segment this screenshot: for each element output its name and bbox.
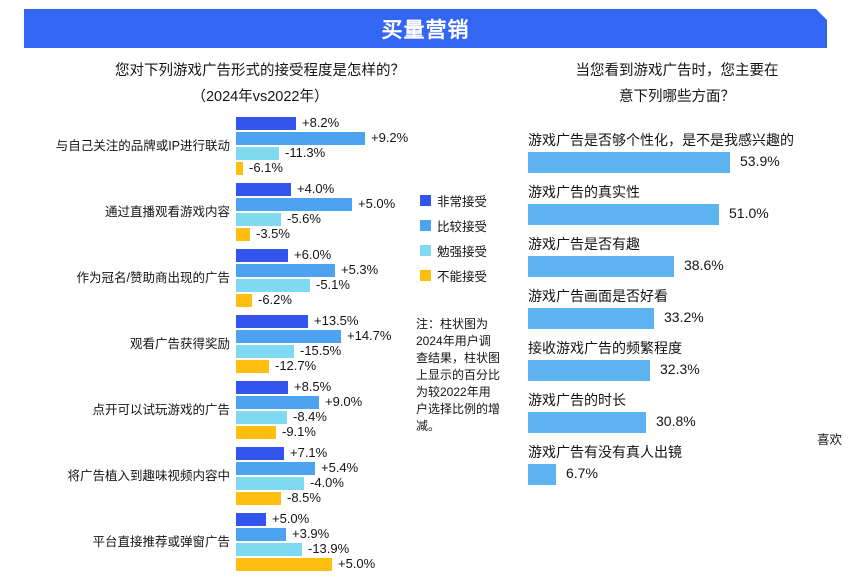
left-chart-title: 您对下列游戏广告形式的接受程度是怎样的？ （2024年vs2022年） [40,58,480,110]
concern-bar [528,464,556,485]
bar-row: -6.2% [236,294,410,307]
bar-value-label: +8.2% [302,115,339,130]
concern-item: 游戏广告是否有趣38.6% [528,234,851,277]
bar-0 [236,381,288,394]
concerns-bar-chart: 游戏广告是否够个性化，是不是我感兴趣的53.9%游戏广告的真实性51.0%游戏广… [528,130,851,494]
bar-value-label: +13.5% [314,313,358,328]
bar-value-label: +5.0% [338,556,375,571]
bar-value-label: +8.5% [294,379,331,394]
concern-label: 游戏广告是否够个性化，是不是我感兴趣的 [528,130,851,150]
bar-group-bars: +13.5%+14.7%-15.5%-12.7% [236,315,410,375]
bar-row: +3.9% [236,528,410,541]
bar-row: -15.5% [236,345,410,358]
bar-2 [236,213,281,226]
bar-group-bars: +8.2%+9.2%-11.3%-6.1% [236,117,410,177]
concern-bar-row: 33.2% [528,308,851,329]
bar-row: +5.0% [236,198,410,211]
concern-value-label: 33.2% [664,309,704,325]
bar-3 [236,162,243,175]
concern-item: 接收游戏广告的频繁程度32.3% [528,338,851,381]
bar-value-label: +9.0% [325,394,362,409]
concern-item: 游戏广告的时长30.8% [528,390,851,433]
bar-row: +5.3% [236,264,410,277]
right-chart-title: 当您看到游戏广告时，您主要在 意下列哪些方面？ [512,58,842,110]
bar-group: 平台直接推荐或弹窗广告+5.0%+3.9%-13.9%+5.0% [0,513,410,579]
bar-value-label: +5.0% [272,511,309,526]
bar-row: +4.0% [236,183,410,196]
bar-group-bars: +8.5%+9.0%-8.4%-9.1% [236,381,410,441]
bar-row: +6.0% [236,249,410,262]
concern-label: 游戏广告的时长 [528,390,851,410]
bar-value-label: -6.2% [258,292,292,307]
bar-0 [236,183,291,196]
bar-row: -3.5% [236,228,410,241]
concern-bar-row: 32.3% [528,360,851,381]
bar-row: +8.2% [236,117,410,130]
bar-row: -9.1% [236,426,410,439]
banner-shape: 买量营销 [24,9,827,48]
bar-row: -8.4% [236,411,410,424]
bar-1 [236,330,341,343]
bar-0 [236,513,266,526]
concern-value-label: 51.0% [729,205,769,221]
concern-bar-row: 38.6% [528,256,851,277]
bar-row: -4.0% [236,477,410,490]
bar-group-bars: +6.0%+5.3%-5.1%-6.2% [236,249,410,309]
bar-row: +8.5% [236,381,410,394]
bar-row: +7.1% [236,447,410,460]
bar-value-label: +14.7% [347,328,391,343]
concern-value-label: 38.6% [684,257,724,273]
concern-bar [528,256,674,277]
bar-2 [236,345,294,358]
concern-label: 游戏广告画面是否好看 [528,286,851,306]
bar-row: +14.7% [236,330,410,343]
concern-label: 游戏广告是否有趣 [528,234,851,254]
concern-bar [528,412,646,433]
bar-group-bars: +5.0%+3.9%-13.9%+5.0% [236,513,410,573]
bar-group-label: 点开可以试玩游戏的广告 [0,399,230,418]
bar-group: 将广告植入到趣味视频内容中+7.1%+5.4%-4.0%-8.5% [0,447,410,513]
concern-bar [528,152,730,173]
bar-value-label: +9.2% [371,130,408,145]
bar-2 [236,411,287,424]
bar-3 [236,294,252,307]
bar-group: 与自己关注的品牌或IP进行联动+8.2%+9.2%-11.3%-6.1% [0,117,410,183]
legend-label: 勉强接受 [437,241,487,260]
bar-row: +5.4% [236,462,410,475]
legend-item[interactable]: 非常接受 [420,188,487,213]
concern-item: 游戏广告是否够个性化，是不是我感兴趣的53.9% [528,130,851,173]
bar-row: -6.1% [236,162,410,175]
bar-group: 作为冠名/赞助商出现的广告+6.0%+5.3%-5.1%-6.2% [0,249,410,315]
bar-value-label: -11.3% [285,145,325,160]
bar-2 [236,279,310,292]
concern-item: 游戏广告的真实性51.0% [528,182,851,225]
concern-bar [528,360,650,381]
page-title: 买量营销 [382,14,470,44]
bar-3 [236,360,269,373]
bar-value-label: +6.0% [294,247,331,262]
concern-value-label: 53.9% [740,153,780,169]
bar-group: 点开可以试玩游戏的广告+8.5%+9.0%-8.4%-9.1% [0,381,410,447]
bar-group-label: 与自己关注的品牌或IP进行联动 [0,135,230,154]
bar-1 [236,132,365,145]
slide-root: 买量营销 您对下列游戏广告形式的接受程度是怎样的？ （2024年vs2022年）… [0,0,851,583]
bar-row: -5.6% [236,213,410,226]
concern-bar [528,308,654,329]
acceptance-grouped-bar-chart: 与自己关注的品牌或IP进行联动+8.2%+9.2%-11.3%-6.1%通过直播… [0,117,410,579]
concern-bar-row: 53.9% [528,152,851,173]
bar-row: -5.1% [236,279,410,292]
bar-3 [236,492,281,505]
bar-value-label: -6.1% [249,160,283,175]
bar-value-label: -13.9% [308,541,349,556]
concern-item: 游戏广告有没有真人出镜6.7% [528,442,851,485]
concern-label: 游戏广告有没有真人出镜 [528,442,851,462]
bar-value-label: +7.1% [290,445,327,460]
legend-label: 非常接受 [437,191,487,210]
bar-value-label: -8.5% [287,490,321,505]
bar-row: +9.2% [236,132,410,145]
legend-label: 比较接受 [437,216,487,235]
concern-label: 游戏广告的真实性 [528,182,851,202]
legend-swatch-icon [420,220,431,231]
header-banner: 买量营销 [24,9,827,48]
bar-value-label: -5.1% [316,277,350,292]
bar-row: +5.0% [236,513,410,526]
concern-bar-row: 6.7% [528,464,851,485]
bar-value-label: +5.0% [358,196,395,211]
bar-group-label: 通过直播观看游戏内容 [0,201,230,220]
bar-3 [236,228,250,241]
concern-label: 接收游戏广告的频繁程度 [528,338,851,358]
concern-bar [528,204,719,225]
concern-value-label: 32.3% [660,361,700,377]
legend-item[interactable]: 不能接受 [420,263,487,288]
bar-row: +5.0% [236,558,410,571]
bar-group-label: 平台直接推荐或弹窗广告 [0,531,230,550]
bar-group-label: 将广告植入到趣味视频内容中 [0,465,230,484]
concern-item: 游戏广告画面是否好看33.2% [528,286,851,329]
bar-group-label: 观看广告获得奖励 [0,333,230,352]
bar-group: 观看广告获得奖励+13.5%+14.7%-15.5%-12.7% [0,315,410,381]
chart-note: 注：柱状图为2024年用户调查结果，柱状图上显示的百分比为较2022年用户选择比… [416,316,502,435]
right-chart-title-line2: 意下列哪些方面？ [512,84,842,110]
bar-value-label: -12.7% [275,358,316,373]
concern-value-label: 30.8% [656,413,696,429]
bar-0 [236,117,296,130]
legend-label: 不能接受 [437,266,487,285]
left-chart-title-line2: （2024年vs2022年） [40,84,480,110]
bar-value-label: -3.5% [256,226,290,241]
bar-1 [236,264,335,277]
bar-3 [236,426,276,439]
bar-group-bars: +7.1%+5.4%-4.0%-8.5% [236,447,410,507]
legend-swatch-icon [420,270,431,281]
left-chart-title-line1: 您对下列游戏广告形式的接受程度是怎样的？ [40,58,480,84]
bar-value-label: -9.1% [282,424,316,439]
bar-value-label: +3.9% [292,526,329,541]
bar-value-label: +5.3% [341,262,378,277]
clipped-edge-text: 喜欢 [817,429,842,448]
bar-value-label: +4.0% [297,181,334,196]
bar-row: -12.7% [236,360,410,373]
bar-value-label: +5.4% [321,460,358,475]
bar-0 [236,315,308,328]
bar-row: +13.5% [236,315,410,328]
bar-group-label: 作为冠名/赞助商出现的广告 [0,267,230,286]
bar-value-label: -8.4% [293,409,327,424]
chart-legend: 非常接受比较接受勉强接受不能接受 [420,188,487,288]
bar-2 [236,477,304,490]
bar-1 [236,462,315,475]
bar-row: +9.0% [236,396,410,409]
bar-row: -11.3% [236,147,410,160]
legend-swatch-icon [420,195,431,206]
concern-bar-row: 30.8% [528,412,851,433]
bar-group: 通过直播观看游戏内容+4.0%+5.0%-5.6%-3.5% [0,183,410,249]
bar-1 [236,528,286,541]
bar-value-label: -4.0% [310,475,344,490]
right-chart-title-line1: 当您看到游戏广告时，您主要在 [512,58,842,84]
bar-2 [236,543,302,556]
bar-value-label: -5.6% [287,211,321,226]
legend-swatch-icon [420,245,431,256]
concern-bar-row: 51.0% [528,204,851,225]
bar-row: -13.9% [236,543,410,556]
bar-0 [236,447,284,460]
legend-item[interactable]: 勉强接受 [420,238,487,263]
bar-0 [236,249,288,262]
bar-row: -8.5% [236,492,410,505]
bar-1 [236,198,352,211]
bar-3 [236,558,332,571]
bar-1 [236,396,319,409]
bar-group-bars: +4.0%+5.0%-5.6%-3.5% [236,183,410,243]
bar-2 [236,147,279,160]
legend-item[interactable]: 比较接受 [420,213,487,238]
bar-value-label: -15.5% [300,343,341,358]
concern-value-label: 6.7% [566,465,598,481]
